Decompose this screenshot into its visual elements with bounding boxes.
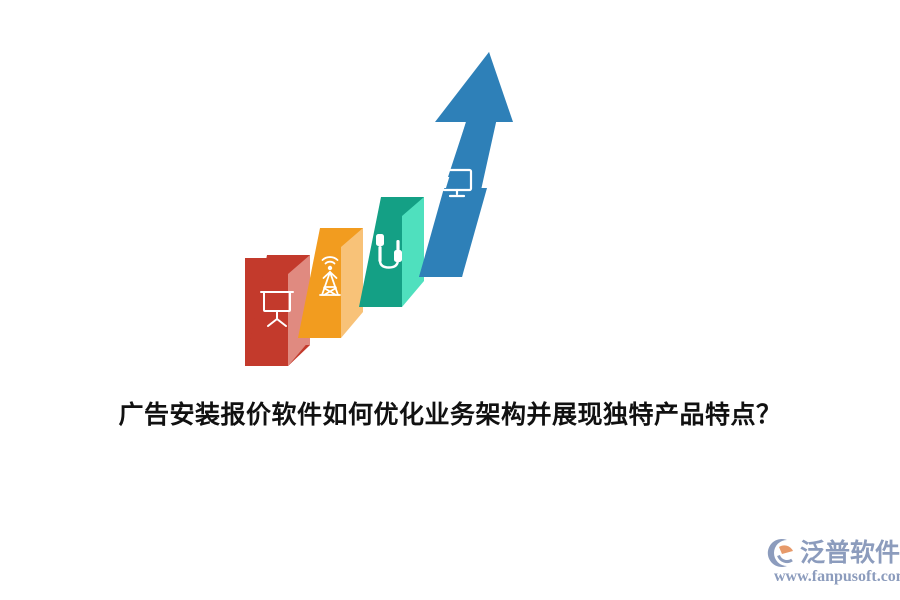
brand-name: 泛普软件 <box>800 539 900 567</box>
arrow-shaft <box>419 112 497 277</box>
logo-row: 泛普软件 <box>766 536 900 570</box>
page-root: 广告安装报价软件如何优化业务架构并展现独特产品特点？ 泛普软件 www.fanp… <box>0 0 900 600</box>
step-2-bevel <box>341 228 363 338</box>
step-4-blue-arrow <box>419 52 513 277</box>
brand-logo[interactable]: 泛普软件 www.fanpusoft.com <box>766 536 892 588</box>
step-3-green-segment <box>359 197 424 307</box>
arrow-head <box>435 52 513 122</box>
page-title: 广告安装报价软件如何优化业务架构并展现独特产品特点？ <box>0 398 900 432</box>
fanpu-swoosh-logo-icon <box>766 538 798 568</box>
brand-url: www.fanpusoft.com <box>774 568 900 586</box>
step-1-red-segment <box>245 255 310 366</box>
ascending-arrow-infographic <box>0 0 900 400</box>
step-3-bevel <box>402 197 424 307</box>
